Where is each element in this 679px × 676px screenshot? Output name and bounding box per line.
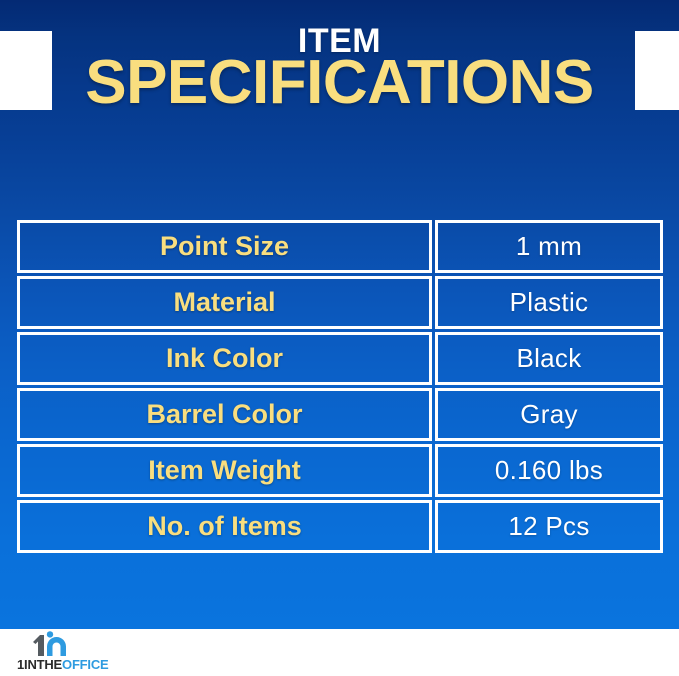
spec-label-text: Point Size — [160, 231, 289, 262]
spec-value-text: 12 Pcs — [508, 511, 589, 542]
specifications-table: Point Size 1 mm Material Plastic Ink Col… — [17, 220, 663, 553]
spec-value-cell: 1 mm — [435, 220, 663, 273]
spec-label-cell: Ink Color — [17, 332, 432, 385]
table-row: Barrel Color Gray — [17, 388, 663, 441]
spec-label-text: No. of Items — [147, 511, 302, 542]
table-row: Ink Color Black — [17, 332, 663, 385]
dot-shape — [47, 631, 53, 637]
table-row: Point Size 1 mm — [17, 220, 663, 273]
spec-label-text: Material — [173, 287, 275, 318]
spec-value-cell: Plastic — [435, 276, 663, 329]
brand-wordmark: 1INTHEOFFICE — [17, 657, 109, 672]
spec-label-cell: Barrel Color — [17, 388, 432, 441]
item-specifications-infographic: ITEM SPECIFICATIONS Point Size 1 mm Mate… — [0, 0, 679, 676]
in-monogram-icon — [27, 631, 83, 657]
spec-value-text: Plastic — [510, 287, 589, 318]
in-monogram-svg — [27, 631, 83, 657]
spec-label-cell: Material — [17, 276, 432, 329]
brand-wordmark-part-one: 1INTHE — [17, 657, 62, 672]
spec-value-text: Black — [516, 343, 581, 374]
spec-label-text: Barrel Color — [146, 399, 302, 430]
spec-value-text: Gray — [520, 399, 578, 430]
spec-value-text: 1 mm — [516, 231, 582, 262]
spec-label-text: Ink Color — [166, 343, 283, 374]
spec-value-cell: Black — [435, 332, 663, 385]
header-banner: ITEM SPECIFICATIONS — [0, 0, 679, 120]
table-row: Item Weight 0.160 lbs — [17, 444, 663, 497]
spec-value-text: 0.160 lbs — [495, 455, 603, 486]
spec-label-text: Item Weight — [148, 455, 301, 486]
footer-bar: 1INTHEOFFICE — [0, 629, 679, 676]
letter-n-arch-shape — [47, 637, 66, 656]
brand-wordmark-part-two: OFFICE — [62, 657, 108, 672]
brand-logo: 1INTHEOFFICE — [17, 631, 137, 675]
spec-label-cell: No. of Items — [17, 500, 432, 553]
numeral-one-shape — [33, 635, 44, 656]
spec-value-cell: 12 Pcs — [435, 500, 663, 553]
spec-value-cell: Gray — [435, 388, 663, 441]
spec-value-cell: 0.160 lbs — [435, 444, 663, 497]
spec-label-cell: Point Size — [17, 220, 432, 273]
table-row: Material Plastic — [17, 276, 663, 329]
table-row: No. of Items 12 Pcs — [17, 500, 663, 553]
header-title-line-two: SPECIFICATIONS — [0, 50, 679, 116]
spec-label-cell: Item Weight — [17, 444, 432, 497]
